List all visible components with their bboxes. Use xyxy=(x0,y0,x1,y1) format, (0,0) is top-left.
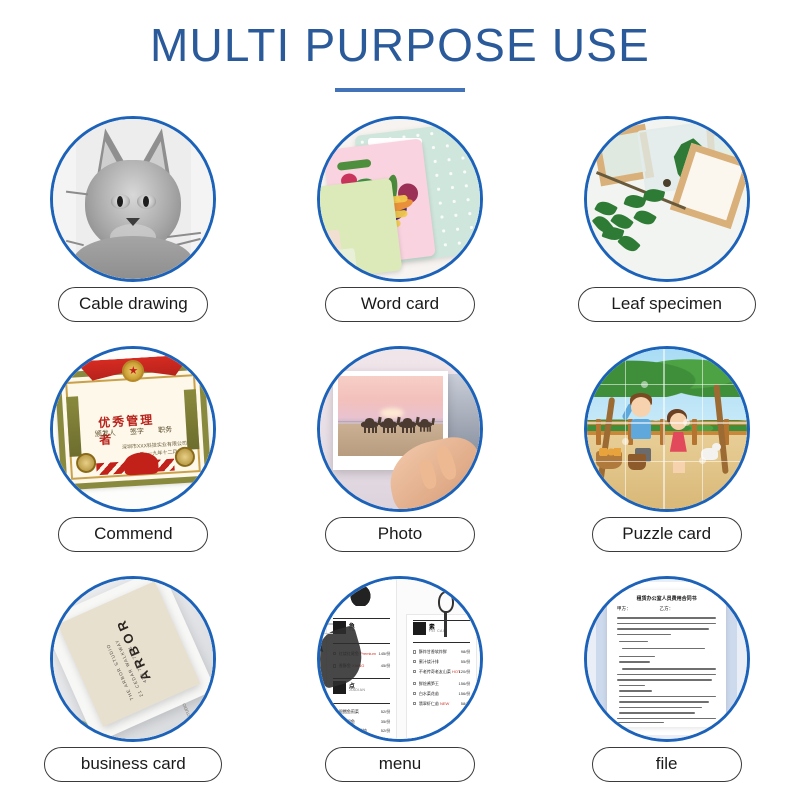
puzzle-card-art xyxy=(587,349,747,509)
photo-art xyxy=(320,349,480,509)
label-pill-word-card: Word card xyxy=(325,287,475,322)
menu-row: 蜜汁烧汁排 55/份 xyxy=(413,659,470,666)
party-a-label: 甲方： xyxy=(617,606,631,612)
label-text: file xyxy=(609,754,725,774)
label-pill-menu: menu xyxy=(325,747,475,782)
use-case-file[interactable]: 租赁办公室人员费用合同书 甲方： 乙方： xyxy=(543,574,791,800)
menu-row: 酥炸银鱼 35/份 xyxy=(333,719,390,726)
menu-art: 鱼 YU 红烧红尾鱼 Premium 145/份 香酥鱼 XIANG xyxy=(320,579,480,739)
label-pill-file: file xyxy=(592,747,742,782)
menu-row: 不老传奇老友山菜 HOT 120/份 xyxy=(413,669,470,676)
label-text: Word card xyxy=(342,294,458,314)
menu-row: 红烧鱼腩家常炖 52/份 xyxy=(333,728,390,735)
certificate-art: 优秀管理者 颁发人 签字 职务 深圳市XXX科技实业有限公司 二○一九年十二月八… xyxy=(53,349,213,509)
circle-frame-business-card: ARBOR THE ARBOR STUDIO 21 CEDAR WALKWAY … xyxy=(50,576,216,742)
circle-frame-cable-drawing xyxy=(50,116,216,282)
file-document-art: 租赁办公室人员费用合同书 甲方： 乙方： xyxy=(587,579,747,739)
party-b-label: 乙方： xyxy=(660,606,674,612)
menu-row: 银鳕鱼煎菜 52/份 xyxy=(333,709,390,716)
circle-frame-menu: 鱼 YU 红烧红尾鱼 Premium 145/份 香酥鱼 XIANG xyxy=(317,576,483,742)
use-case-word-card[interactable]: Word card xyxy=(276,114,524,344)
label-text: business card xyxy=(61,754,205,774)
menu-row: 鲜烩酱笋王 156/份 xyxy=(413,681,470,688)
business-card-art: ARBOR THE ARBOR STUDIO 21 CEDAR WALKWAY … xyxy=(53,579,213,739)
label-text: menu xyxy=(342,754,458,774)
menu-row: 翡翠虾仁苗 NEW 58/份 xyxy=(413,701,470,708)
use-case-puzzle-card[interactable]: Puzzle card xyxy=(543,344,791,574)
label-text: Photo xyxy=(342,524,458,544)
menu-row: 酥炸甘香软炸鲜 98/份 xyxy=(413,649,470,656)
label-text: Puzzle card xyxy=(609,524,725,544)
label-pill-cable-drawing: Cable drawing xyxy=(58,287,208,322)
use-case-photo[interactable]: Photo xyxy=(276,344,524,574)
use-case-menu[interactable]: 鱼 YU 红烧红尾鱼 Premium 145/份 香酥鱼 XIANG xyxy=(276,574,524,800)
page-title: MULTI PURPOSE USE xyxy=(0,20,800,71)
infographic-page: MULTI PURPOSE USE xyxy=(0,0,800,800)
use-case-grid: Cable drawing xyxy=(0,114,800,800)
circle-frame-commend: 优秀管理者 颁发人 签字 职务 深圳市XXX科技实业有限公司 二○一九年十二月八… xyxy=(50,346,216,512)
label-pill-puzzle-card: Puzzle card xyxy=(592,517,742,552)
document-title: 租赁办公室人员费用合同书 xyxy=(637,595,697,602)
label-pill-commend: Commend xyxy=(58,517,208,552)
circle-frame-photo xyxy=(317,346,483,512)
label-text: Commend xyxy=(75,524,191,544)
label-pill-photo: Photo xyxy=(325,517,475,552)
use-case-cable-drawing[interactable]: Cable drawing xyxy=(9,114,257,344)
use-case-leaf-specimen[interactable]: Leaf specimen xyxy=(543,114,791,344)
circle-frame-puzzle-card xyxy=(584,346,750,512)
circle-frame-leaf-specimen xyxy=(584,116,750,282)
leaf-specimen-art xyxy=(587,119,747,279)
circle-frame-word-card xyxy=(317,116,483,282)
cat-photo-art xyxy=(53,119,213,279)
spoon-illustration xyxy=(438,591,454,635)
circle-frame-file: 租赁办公室人员费用合同书 甲方： 乙方： xyxy=(584,576,750,742)
title-underline xyxy=(335,88,465,92)
label-pill-business-card: business card xyxy=(44,747,222,782)
use-case-commend[interactable]: 优秀管理者 颁发人 签字 职务 深圳市XXX科技实业有限公司 二○一九年十二月八… xyxy=(9,344,257,574)
menu-row: 白水菜花苗 156/份 xyxy=(413,691,470,698)
label-pill-leaf-specimen: Leaf specimen xyxy=(578,287,756,322)
label-text: Cable drawing xyxy=(75,294,191,314)
word-card-art xyxy=(320,119,480,279)
header: MULTI PURPOSE USE xyxy=(0,0,800,92)
use-case-business-card[interactable]: ARBOR THE ARBOR STUDIO 21 CEDAR WALKWAY … xyxy=(9,574,257,800)
label-text: Leaf specimen xyxy=(595,294,739,314)
